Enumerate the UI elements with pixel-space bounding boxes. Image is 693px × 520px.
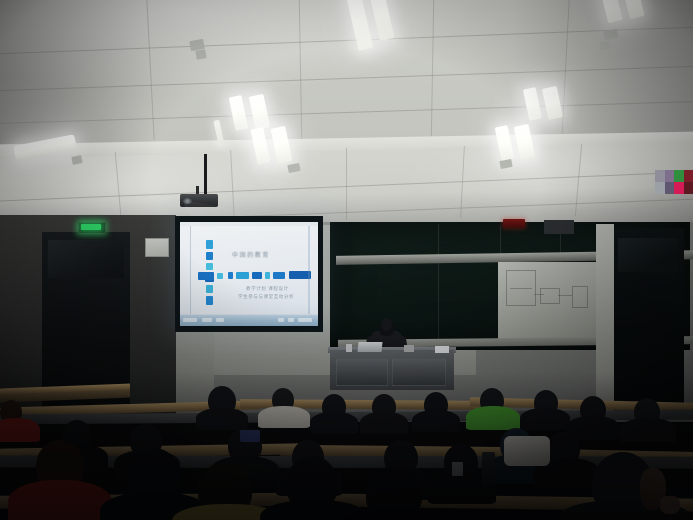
swatch bbox=[665, 170, 675, 182]
swatch bbox=[655, 182, 665, 194]
projection-screen: 中国的教育 教学计划 课程设计 学生参与与课堂互动分析 bbox=[180, 222, 318, 326]
taskbar-clock[interactable] bbox=[298, 318, 312, 322]
console-panel bbox=[392, 358, 446, 386]
right-door-glass bbox=[618, 238, 678, 272]
slide-block bbox=[273, 272, 285, 279]
swatch bbox=[684, 170, 693, 182]
swatch bbox=[684, 182, 693, 194]
slide-scrollbar[interactable] bbox=[308, 226, 310, 314]
slide-title: 中国的教育 bbox=[232, 250, 270, 259]
ceiling-tile-line bbox=[346, 148, 347, 220]
door-frame bbox=[596, 224, 614, 420]
whiteboard-diagram-box bbox=[572, 286, 588, 308]
desk-item bbox=[404, 345, 414, 352]
whiteboard-diagram-box bbox=[540, 288, 560, 304]
whiteboard-diagram-line bbox=[534, 294, 544, 295]
exit-sign-glow bbox=[81, 224, 101, 230]
windows-taskbar[interactable] bbox=[180, 315, 318, 326]
upper-ceiling-shading bbox=[0, 0, 693, 152]
foreground-student-hand bbox=[660, 496, 680, 514]
light-housing bbox=[195, 49, 206, 60]
wall-mounted-control-box[interactable] bbox=[145, 238, 169, 257]
wall-speaker bbox=[544, 220, 574, 234]
fire-alarm-indicator bbox=[503, 219, 525, 228]
lecturer-head bbox=[381, 318, 392, 331]
left-door-glass bbox=[48, 240, 124, 278]
whiteboard-diagram-line bbox=[558, 295, 572, 296]
presentation-slide: 中国的教育 教学计划 课程设计 学生参与与课堂互动分析 bbox=[180, 226, 318, 314]
slide-body-line-1: 教学计划 课程设计 bbox=[246, 286, 289, 292]
taskbar-tray-icon[interactable] bbox=[288, 318, 294, 322]
lecture-hall-photo: 中国的教育 教学计划 课程设计 学生参与与课堂互动分析 bbox=[0, 0, 693, 520]
taskbar-item[interactable] bbox=[202, 318, 212, 322]
whiteboard-diagram-line bbox=[510, 288, 532, 289]
slide-block bbox=[217, 273, 223, 279]
slide-block bbox=[206, 263, 213, 270]
slide-block bbox=[228, 272, 233, 279]
swatch bbox=[674, 170, 684, 182]
slide-body-line-2: 学生参与与课堂互动分析 bbox=[238, 294, 294, 300]
slide-block bbox=[198, 272, 214, 280]
laptop[interactable] bbox=[357, 342, 382, 352]
slide-block bbox=[206, 285, 213, 293]
blackboard-seam bbox=[438, 224, 439, 340]
color-calibration-patch bbox=[655, 170, 693, 194]
taskbar-tray-icon[interactable] bbox=[278, 318, 284, 322]
water-bottle bbox=[482, 452, 495, 486]
slide-block bbox=[206, 240, 213, 249]
swatch bbox=[655, 170, 665, 182]
desk-item bbox=[346, 344, 352, 352]
projector-lens bbox=[183, 198, 192, 204]
slide-block bbox=[236, 272, 249, 279]
swatch bbox=[674, 182, 684, 194]
slide-block bbox=[206, 296, 213, 305]
slide-block bbox=[252, 272, 262, 279]
slide-pane-divider bbox=[190, 226, 191, 314]
taskbar-item[interactable] bbox=[216, 318, 224, 322]
console-panel bbox=[336, 358, 388, 386]
slide-block bbox=[265, 272, 270, 279]
lecturer-console-desk bbox=[330, 350, 454, 390]
slide-block bbox=[206, 252, 213, 260]
papers-on-desk bbox=[435, 346, 449, 353]
drinking-glass bbox=[452, 462, 463, 476]
swatch bbox=[665, 182, 675, 194]
desk-item-blue bbox=[240, 430, 260, 442]
white-bag bbox=[504, 436, 550, 466]
taskbar-start-button[interactable] bbox=[183, 318, 197, 322]
